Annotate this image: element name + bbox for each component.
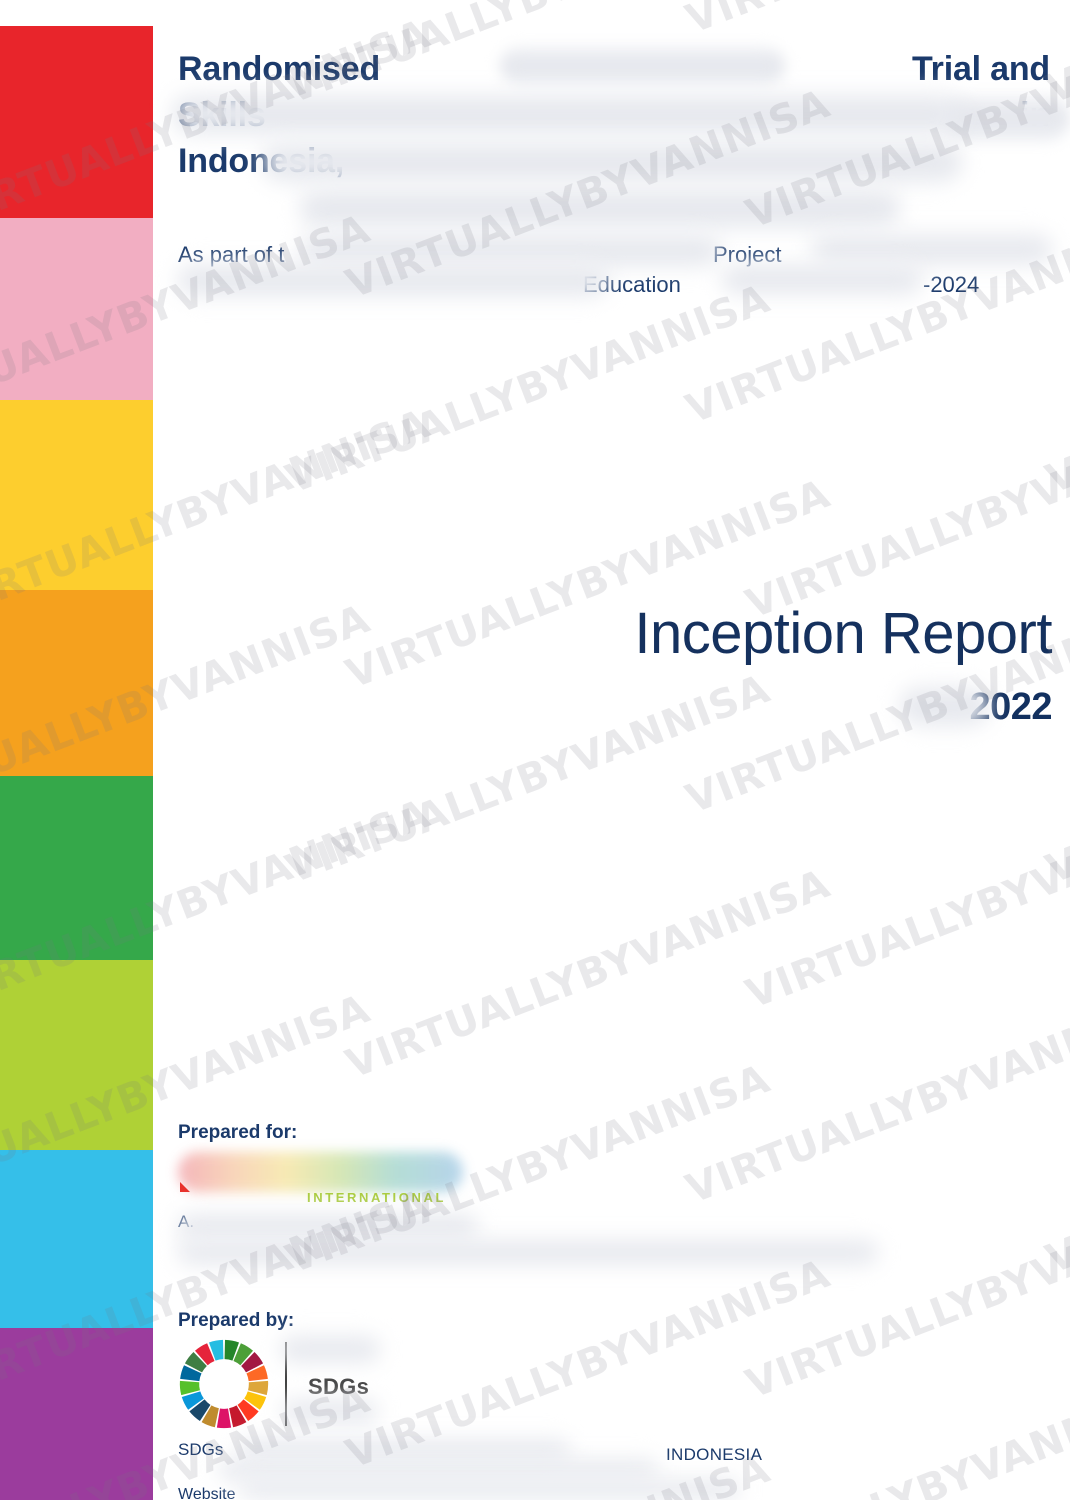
footer-website-label: Website bbox=[178, 1486, 236, 1500]
redaction-footer-3 bbox=[240, 1478, 740, 1500]
report-type-heading: Inception Report bbox=[634, 600, 1052, 667]
redaction-title-1a bbox=[500, 46, 785, 86]
title-line-1-left: Randomised bbox=[178, 46, 380, 92]
subtitle-line-2-right: -2024 bbox=[923, 270, 979, 300]
prepared-for-label: Prepared for: bbox=[178, 1122, 297, 1144]
sdg-wheel-icon bbox=[178, 1338, 270, 1430]
sdg-logo-word: SDGs bbox=[308, 1374, 369, 1400]
report-cover-page: Randomised Trial and Skills in Indonesia… bbox=[0, 0, 1070, 1500]
footer-left-text: SDGs bbox=[178, 1440, 223, 1460]
prepared-by-label: Prepared by: bbox=[178, 1310, 294, 1332]
redaction-org-2 bbox=[282, 1398, 378, 1424]
partner-logo-caption: INTERNATIONAL bbox=[307, 1190, 446, 1205]
redaction-subtitle-3 bbox=[178, 262, 608, 298]
redaction-subtitle-2 bbox=[812, 232, 1052, 266]
redaction-subtitle-4 bbox=[722, 262, 922, 296]
redaction-footer-2 bbox=[218, 1458, 658, 1480]
sdg-wheel-segment bbox=[217, 1409, 231, 1429]
redaction-org-1 bbox=[280, 1334, 380, 1364]
title-line-1-right: Trial and bbox=[912, 46, 1050, 92]
redaction-address-2 bbox=[178, 1238, 878, 1266]
redaction-title-3b bbox=[300, 186, 900, 230]
footer-right-text: INDONESIA bbox=[666, 1445, 762, 1465]
redaction-title-2a bbox=[172, 92, 962, 136]
redaction-title-3a bbox=[262, 140, 962, 184]
partner-logo bbox=[178, 1152, 463, 1192]
redaction-year bbox=[900, 684, 990, 728]
